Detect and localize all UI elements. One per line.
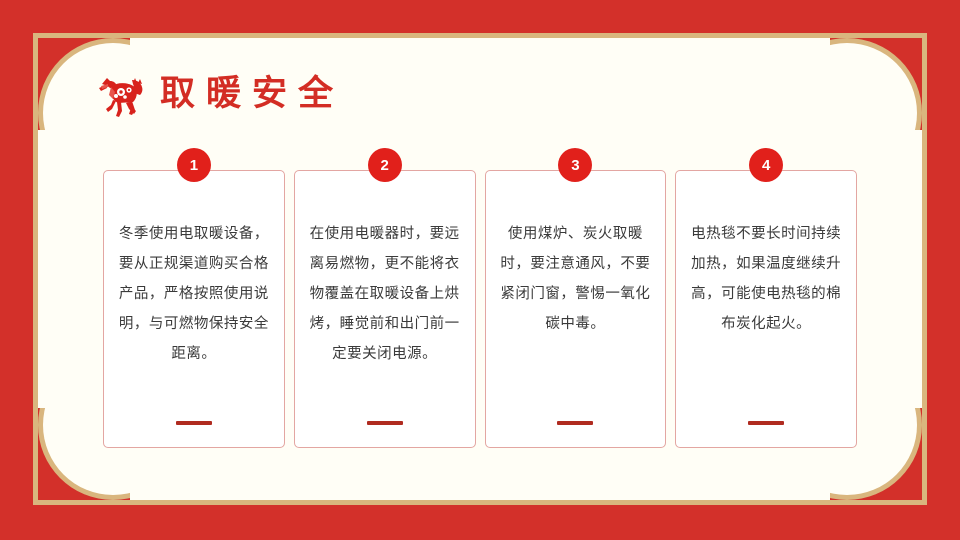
card-text: 在使用电暖器时，要远离易燃物，更不能将衣物覆盖在取暖设备上烘烤，睡觉前和出门前一… <box>295 219 475 369</box>
tip-card[interactable]: 1 冬季使用电取暖设备，要从正规渠道购买合格产品，严格按照使用说明，与可燃物保持… <box>103 170 285 448</box>
paper-cut-horse-icon <box>88 62 150 124</box>
card-number-badge: 2 <box>368 148 402 182</box>
card-text: 冬季使用电取暖设备，要从正规渠道购买合格产品，严格按照使用说明，与可燃物保持安全… <box>104 219 284 369</box>
tip-card[interactable]: 2 在使用电暖器时，要远离易燃物，更不能将衣物覆盖在取暖设备上烘烤，睡觉前和出门… <box>294 170 476 448</box>
card-number-badge: 1 <box>177 148 211 182</box>
card-text: 电热毯不要长时间持续加热，如果温度继续升高，可能使电热毯的棉布炭化起火。 <box>676 219 856 339</box>
slide-root: 取暖安全 1 冬季使用电取暖设备，要从正规渠道购买合格产品，严格按照使用说明，与… <box>0 0 960 540</box>
card-divider-dash <box>748 421 784 425</box>
card-number-badge: 3 <box>558 148 592 182</box>
corner-ornament-top-right <box>830 38 922 130</box>
card-divider-dash <box>176 421 212 425</box>
slide-header: 取暖安全 <box>88 62 344 124</box>
card-number-badge: 4 <box>749 148 783 182</box>
tip-card[interactable]: 4 电热毯不要长时间持续加热，如果温度继续升高，可能使电热毯的棉布炭化起火。 <box>675 170 857 448</box>
card-divider-dash <box>367 421 403 425</box>
tips-card-list: 1 冬季使用电取暖设备，要从正规渠道购买合格产品，严格按照使用说明，与可燃物保持… <box>103 170 857 448</box>
tip-card[interactable]: 3 使用煤炉、炭火取暖时，要注意通风，不要紧闭门窗，警惕一氧化碳中毒。 <box>485 170 667 448</box>
card-divider-dash <box>557 421 593 425</box>
card-text: 使用煤炉、炭火取暖时，要注意通风，不要紧闭门窗，警惕一氧化碳中毒。 <box>486 219 666 339</box>
page-title: 取暖安全 <box>160 76 344 111</box>
